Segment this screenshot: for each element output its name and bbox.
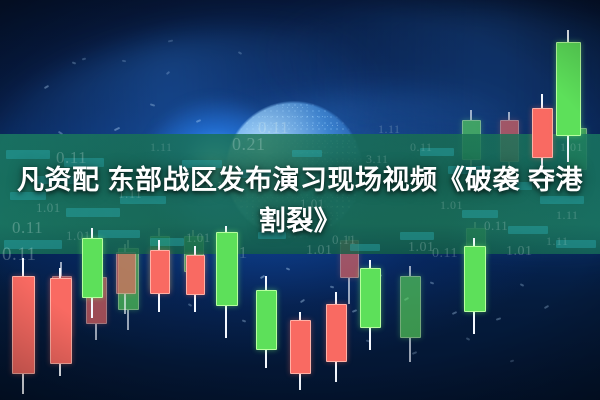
news-banner-image: 0.111.111.010.111.010.111.010.210.111.11… — [0, 0, 600, 400]
headline-text: 凡资配 东部战区发布演习现场视频《破袭 夺港 割裂》 — [0, 160, 600, 242]
